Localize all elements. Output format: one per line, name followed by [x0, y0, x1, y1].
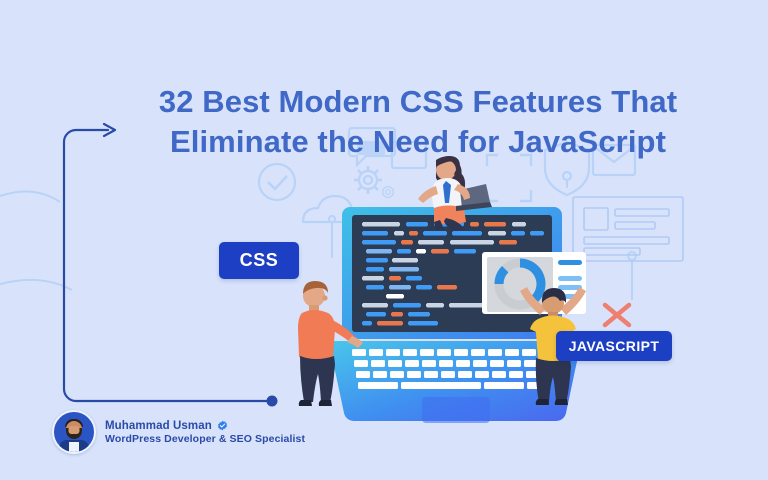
javascript-badge[interactable]: JAVASCRIPT — [556, 331, 672, 361]
gear-icon — [383, 187, 394, 198]
avatar-shirt — [69, 442, 79, 454]
author-avatar — [52, 410, 96, 454]
title-line-1: 32 Best Modern CSS Features That — [159, 84, 677, 119]
author-name-row: Muhammad Usman — [105, 420, 305, 432]
css-badge[interactable]: CSS — [219, 242, 299, 279]
title-line-2: Eliminate the Need for JavaScript — [118, 122, 718, 162]
page-title: 32 Best Modern CSS Features That Elimina… — [118, 82, 718, 163]
author-block: Muhammad Usman WordPress Developer & SEO… — [52, 410, 305, 454]
person-left-pointing — [288, 278, 366, 408]
gear-icon — [354, 166, 382, 194]
javascript-badge-label: JAVASCRIPT — [569, 338, 660, 354]
avatar-face — [69, 426, 80, 434]
trackpad — [422, 397, 490, 423]
chart-top-bars — [558, 260, 582, 265]
author-text: Muhammad Usman WordPress Developer & SEO… — [105, 420, 305, 445]
author-name: Muhammad Usman — [105, 420, 212, 432]
author-role: WordPress Developer & SEO Specialist — [105, 433, 305, 445]
connector-end-dot — [267, 396, 278, 407]
css-badge-label: CSS — [240, 250, 279, 271]
verified-badge-icon — [217, 420, 228, 431]
red-x-mark — [600, 300, 634, 330]
banner-canvas: 32 Best Modern CSS Features That Elimina… — [0, 0, 768, 480]
person-top-sitting-with-laptop — [410, 152, 496, 230]
